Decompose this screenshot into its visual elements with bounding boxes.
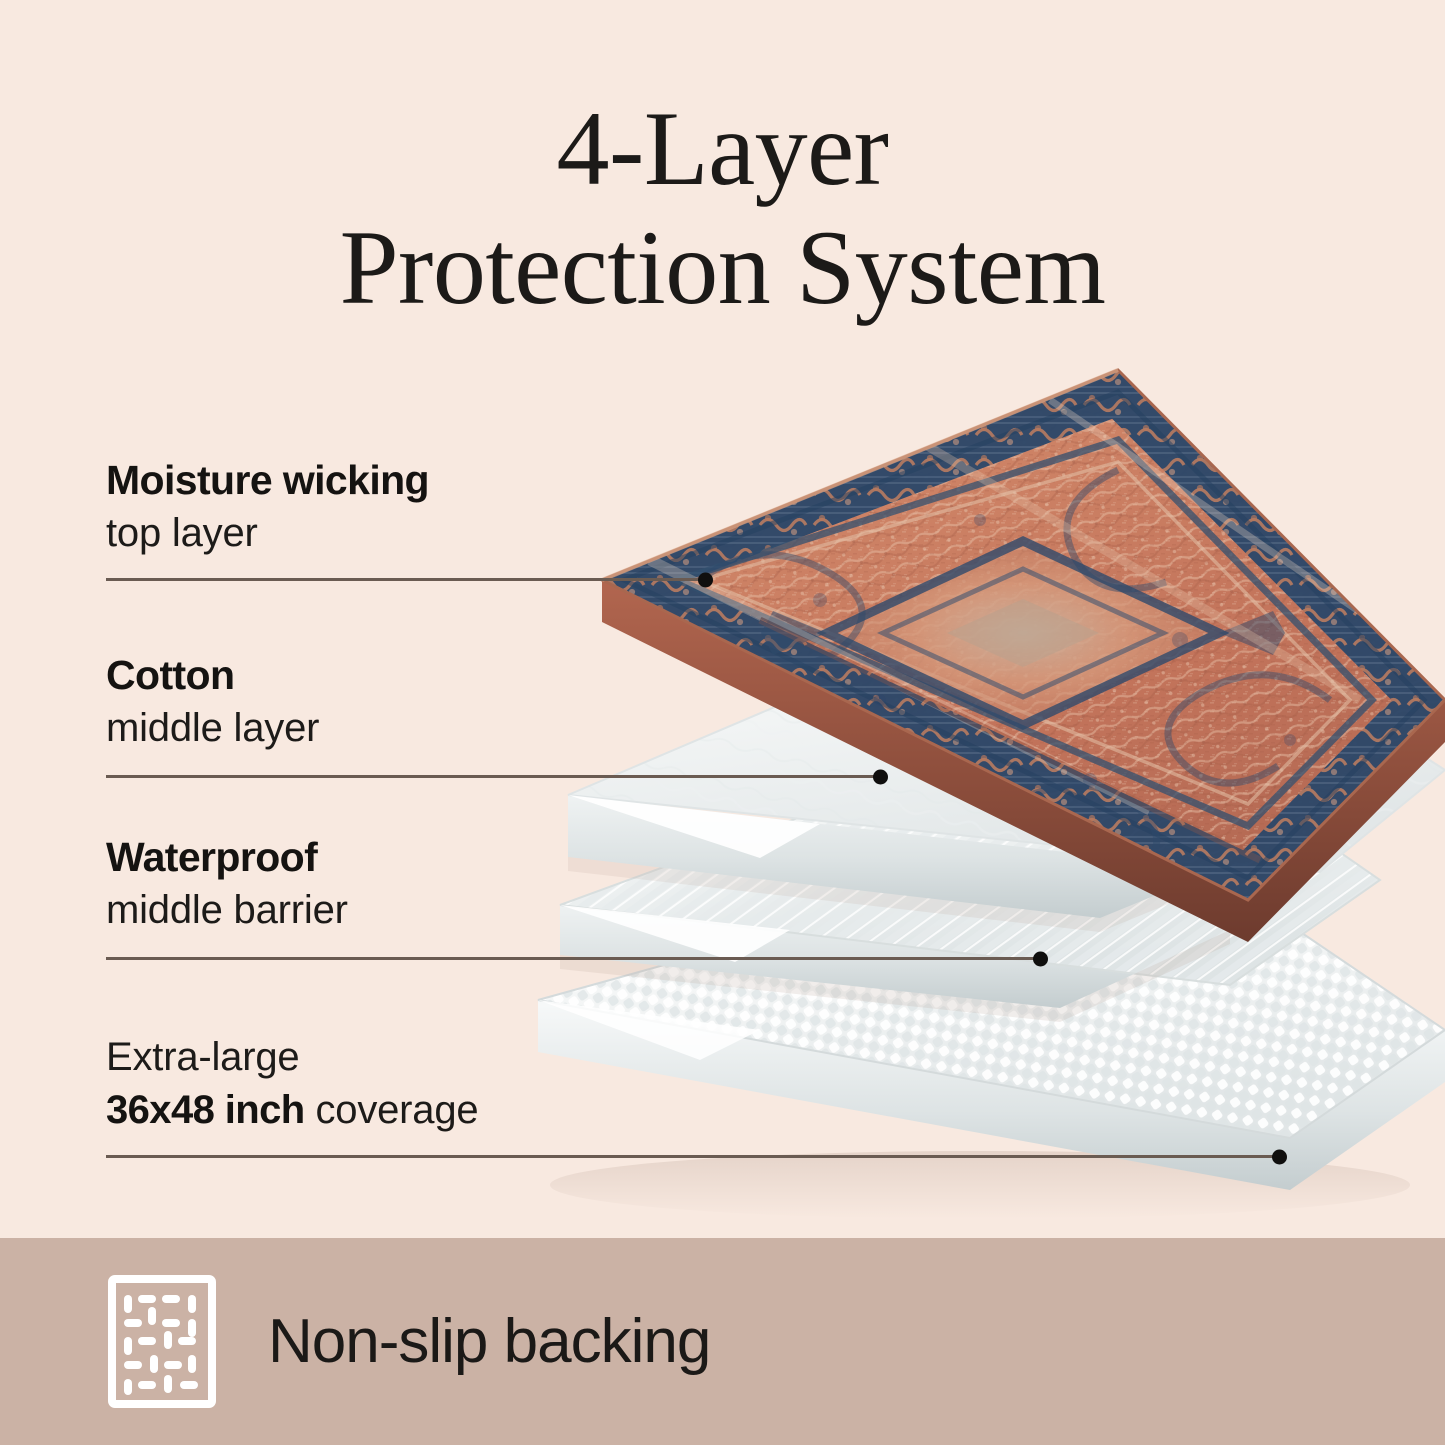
callout-title-cotton: Cotton [106,653,319,697]
callout-coverage-measurement: 36x48 inch [106,1088,305,1132]
infographic-page: 4-Layer Protection System [0,0,1445,1445]
callout-moisture-wicking: Moisture wicking top layer [106,458,429,556]
leader-dot-cotton [873,769,888,784]
callout-subtitle-cotton: middle layer [106,706,319,751]
callout-subtitle-waterproof: middle barrier [106,888,348,933]
leader-line-waterproof [106,957,1041,960]
non-slip-banner-label: Non-slip backing [268,1306,710,1377]
callout-title-moisture-wicking: Moisture wicking [106,458,429,502]
leader-line-coverage [106,1155,1280,1158]
callout-title-waterproof: Waterproof [106,835,348,879]
callout-cotton: Cotton middle layer [106,653,319,751]
leader-dot-waterproof [1033,951,1048,966]
non-slip-grid-icon [108,1275,216,1408]
leader-dot-coverage [1272,1149,1287,1164]
page-title: 4-Layer Protection System [0,86,1445,330]
callout-subtitle-moisture-wicking: top layer [106,511,429,556]
title-line-1: 4-Layer [0,86,1445,211]
callout-coverage-suffix: coverage [305,1088,479,1132]
callout-coverage-line2: 36x48 inch coverage [106,1088,478,1132]
callout-coverage-line1: Extra-large [106,1035,478,1079]
callout-waterproof: Waterproof middle barrier [106,835,348,933]
callout-coverage: Extra-large 36x48 inch coverage [106,1035,478,1132]
leader-line-moisture-wicking [106,578,706,581]
non-slip-banner: Non-slip backing [0,1238,1445,1445]
leader-line-cotton [106,775,881,778]
leader-dot-moisture-wicking [698,572,713,587]
title-line-2: Protection System [0,205,1445,330]
